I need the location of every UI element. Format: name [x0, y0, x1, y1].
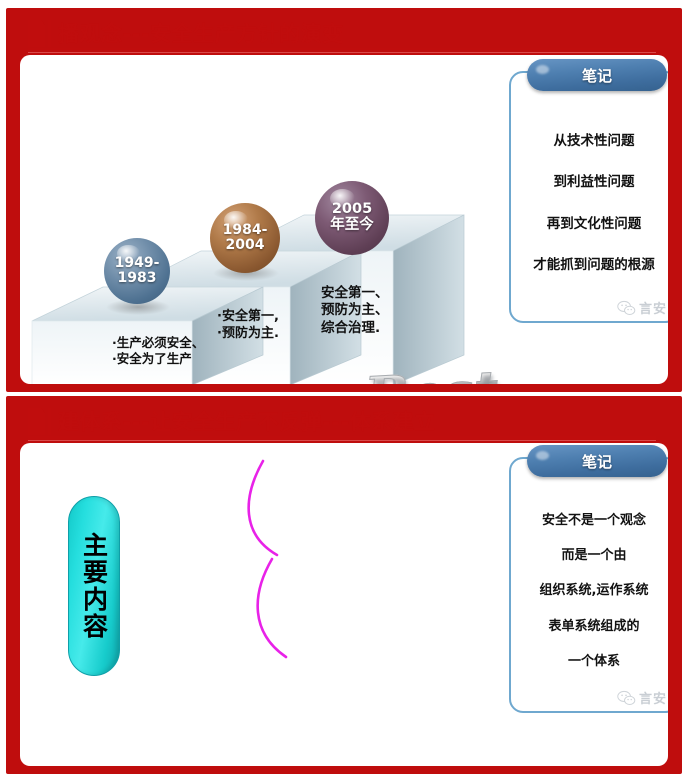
step-caption-line: 预防为主、 — [321, 302, 389, 319]
notes-line: 从技术性问题 — [554, 129, 635, 149]
slide1-title-row: 播观念---安全生产方针的演变 — [28, 16, 652, 50]
slide-concept-evolution: 播观念---安全生产方针的演变 — [6, 8, 682, 392]
title-underline — [28, 436, 656, 439]
notes-line: 而是一个由 — [561, 544, 626, 563]
notes-body: 安全不是一个观念 而是一个由 组织系统,运作系统 表单系统组成的 一个体系 — [519, 493, 668, 685]
era-line-2: 年至今 — [330, 217, 374, 233]
notes-header-pill: 笔记 — [527, 59, 667, 91]
era-line-1: 1949- — [115, 255, 160, 271]
step-caption-3: 安全第一、 预防为主、 综合治理. — [321, 285, 389, 337]
slide2-title-row: 建体系---让安全生产不反弹---体系建立 — [28, 404, 652, 438]
era-line-2: 1983 — [118, 270, 157, 286]
notes-body: 从技术性问题 到利益性问题 再到文化性问题 才能抓到问题的根源 — [519, 107, 668, 295]
notes-line: 组织系统,运作系统 — [540, 579, 649, 598]
step-caption-line: ·生产必须安全、 — [112, 335, 204, 351]
wechat-icon — [617, 690, 636, 706]
bookmark-flag-icon — [28, 408, 45, 435]
notes-header-label: 笔记 — [582, 65, 612, 86]
notes-header-pill: 笔记 — [527, 445, 667, 477]
title-underline — [28, 48, 656, 51]
step-caption-line: ·安全第一, — [217, 309, 279, 326]
watermark-slide1: 言安 — [617, 298, 667, 317]
page-title: 播观念---安全生产方针的演变 — [58, 18, 344, 48]
step-caption-line: 综合治理. — [321, 320, 389, 337]
era-line-1: 1984- — [223, 222, 268, 238]
notes-card-slide1: 笔记 从技术性问题 到利益性问题 再到文化性问题 才能抓到问题的根源 言安 — [509, 71, 668, 323]
era-sphere-2005-present: 2005 年至今 — [315, 181, 389, 255]
era-line-2: 2004 — [226, 237, 265, 253]
notes-line: 一个体系 — [568, 650, 620, 669]
notes-header-label: 笔记 — [582, 451, 612, 472]
title-divider — [48, 408, 51, 435]
slide2-body: 主要内容 体系建立 体系应用 — [20, 443, 668, 766]
page-title: 建体系---让安全生产不反弹---体系建立 — [58, 406, 436, 436]
slide1-body: 1949- 1983 1984- 2004 2005 年至今 ·生产必须安全、 … — [20, 55, 668, 384]
mindmap-diagram: 主要内容 体系建立 体系应用 — [20, 443, 509, 766]
bookmark-flag-icon — [28, 20, 45, 47]
wechat-icon — [617, 300, 636, 316]
notes-line: 到利益性问题 — [554, 170, 635, 190]
notes-line: 才能抓到问题的根源 — [533, 253, 655, 273]
notes-line: 安全不是一个观念 — [542, 509, 646, 528]
watermark-slide2: 言安 — [617, 688, 667, 707]
notes-card-slide2: 笔记 安全不是一个观念 而是一个由 组织系统,运作系统 表单系统组成的 一个体系 — [509, 457, 668, 713]
main-topic-pill: 主要内容 — [68, 496, 120, 676]
step-caption-1: ·生产必须安全、 ·安全为了生产 — [112, 335, 204, 367]
notes-line: 再到文化性问题 — [547, 212, 642, 232]
title-divider — [48, 20, 51, 47]
slide-system-building: 建体系---让安全生产不反弹---体系建立 主要内容 体系建立 — [6, 396, 682, 774]
era-sphere-1949-1983: 1949- 1983 — [104, 238, 170, 304]
step-caption-line: ·安全为了生产 — [112, 351, 204, 367]
notes-line: 表单系统组成的 — [548, 615, 639, 634]
era-line-1: 2005 — [332, 201, 372, 217]
watermark-label: 言安 — [639, 298, 667, 317]
era-sphere-1984-2004: 1984- 2004 — [210, 203, 280, 273]
step-caption-line: ·预防为主. — [217, 326, 279, 343]
step-caption-line: 安全第一、 — [321, 285, 389, 302]
main-topic-label: 主要内容 — [82, 532, 107, 640]
watermark-label: 言安 — [639, 688, 667, 707]
stairs-diagram: 1949- 1983 1984- 2004 2005 年至今 ·生产必须安全、 … — [20, 55, 509, 384]
step-caption-2: ·安全第一, ·预防为主. — [217, 309, 279, 342]
